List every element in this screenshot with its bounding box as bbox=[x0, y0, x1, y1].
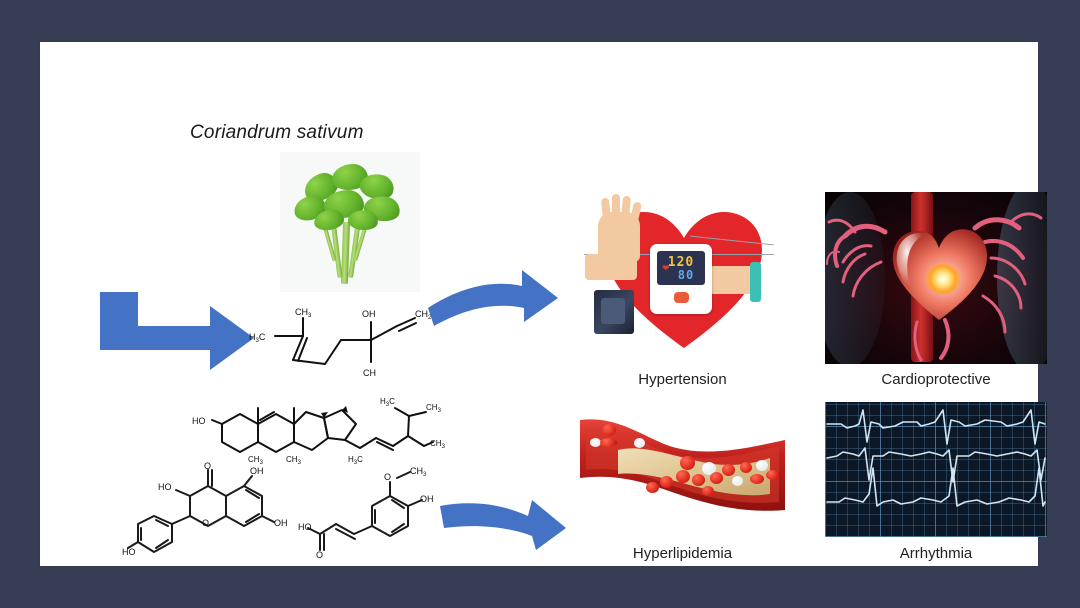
hyperlipidemia-illustration bbox=[580, 402, 785, 537]
blood-cell bbox=[722, 464, 735, 476]
blood-cell bbox=[732, 476, 743, 486]
cardioprotective-illustration bbox=[825, 192, 1047, 364]
label-cardioprotective: Cardioprotective bbox=[825, 371, 1047, 388]
ecg-traces bbox=[825, 402, 1047, 537]
bottom-effect-arrow bbox=[440, 494, 570, 556]
chemical-structure-ferulic-acid: O CH3 OH HO O bbox=[298, 462, 448, 558]
chem-label: H3C bbox=[249, 332, 266, 344]
blood-cell bbox=[766, 470, 779, 480]
blood-cell bbox=[756, 460, 768, 471]
blood-cell bbox=[710, 472, 723, 484]
artery-cross-section bbox=[580, 402, 785, 537]
label-arrhythmia: Arrhythmia bbox=[825, 545, 1047, 562]
blood-cell bbox=[634, 438, 645, 448]
bp-screen: ❤ 120 80 bbox=[657, 251, 705, 285]
blood-pressure-monitor: ❤ 120 80 bbox=[650, 244, 712, 314]
chem-label: CH3 bbox=[430, 439, 445, 450]
slide-panel: Coriandrum sativum bbox=[40, 42, 1038, 566]
systolic-reading: 120 bbox=[668, 256, 694, 269]
chem-label: H3C bbox=[380, 397, 395, 408]
label-hyperlipidemia: Hyperlipidemia bbox=[580, 545, 785, 562]
chem-label: HO bbox=[122, 547, 136, 557]
chem-label: OH bbox=[274, 518, 288, 528]
chem-label: OH bbox=[420, 494, 434, 504]
chem-label: O bbox=[202, 518, 209, 528]
chem-label: CH bbox=[363, 368, 376, 378]
chemical-structure-linalool: H3C CH3 OH CH2 CH bbox=[245, 304, 445, 382]
blood-cell bbox=[602, 424, 616, 436]
chem-label: O bbox=[384, 472, 391, 482]
chem-label: CH3 bbox=[410, 466, 427, 478]
chem-label: CH3 bbox=[426, 403, 442, 414]
chem-label: OH bbox=[250, 466, 264, 476]
finger bbox=[612, 194, 620, 220]
page-title: Coriandrum sativum bbox=[190, 122, 364, 144]
wrist-band bbox=[750, 262, 761, 302]
chemical-structure-kaempferol: O OH HO OH O HO bbox=[122, 460, 297, 560]
extraction-arrow bbox=[98, 288, 258, 380]
left-arm bbox=[585, 254, 637, 280]
slide-canvas: Coriandrum sativum bbox=[0, 0, 1080, 608]
chemical-structure-stigmasterol: HO CH3 CH3 H3C H3C CH3 CH3 bbox=[190, 380, 445, 466]
chem-label: O bbox=[316, 550, 323, 558]
chem-label: HO bbox=[298, 522, 312, 532]
blood-cell bbox=[660, 476, 673, 488]
heart-icon: ❤ bbox=[662, 263, 670, 274]
chem-label: O bbox=[204, 461, 211, 471]
blood-cell bbox=[646, 482, 659, 493]
monitor-button bbox=[674, 292, 689, 303]
chem-label: HO bbox=[158, 482, 172, 492]
blood-cell bbox=[676, 470, 690, 483]
blood-cell bbox=[702, 486, 714, 496]
blood-cell bbox=[600, 438, 617, 447]
label-hypertension: Hypertension bbox=[580, 371, 785, 388]
coriander-seeds-photo bbox=[100, 152, 277, 292]
chem-label: HO bbox=[192, 416, 206, 426]
diastolic-reading: 80 bbox=[678, 269, 694, 281]
coriander-leaves-photo bbox=[280, 152, 420, 292]
arrhythmia-illustration bbox=[825, 402, 1047, 537]
hypertension-illustration: ❤ 120 80 bbox=[580, 192, 785, 364]
bp-cuff bbox=[594, 290, 634, 334]
blood-cell bbox=[680, 456, 695, 470]
finger bbox=[601, 198, 611, 221]
seed-texture-overlay bbox=[100, 152, 277, 292]
chem-label: OH bbox=[362, 309, 376, 319]
blood-cell bbox=[740, 462, 752, 473]
blood-cell bbox=[692, 474, 705, 486]
heart-glow bbox=[925, 264, 961, 294]
top-effect-arrow bbox=[428, 264, 563, 344]
blood-cell bbox=[750, 474, 764, 484]
